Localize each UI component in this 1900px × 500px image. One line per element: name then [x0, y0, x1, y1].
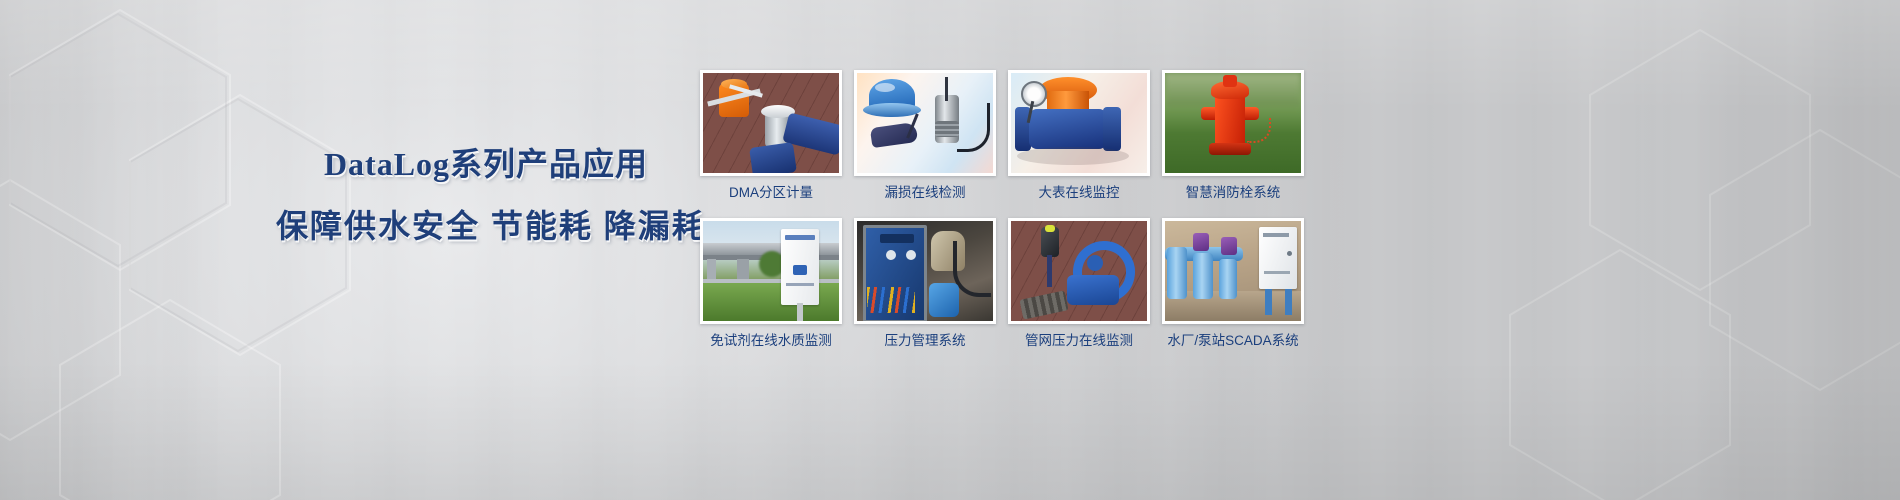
- panel-label-shape: [1263, 233, 1289, 237]
- cabinet-knob-2-shape: [906, 250, 916, 260]
- dma-metering-photo[interactable]: [700, 70, 842, 176]
- product-tile-caption: 大表在线监控: [1008, 185, 1150, 201]
- monitoring-cabinet-shape: [781, 229, 819, 305]
- probe-rod-shape: [945, 77, 948, 101]
- pipe-shape-2: [1193, 253, 1213, 299]
- sensor-stem-shape: [1047, 255, 1052, 287]
- valve-hub-shape: [1087, 255, 1103, 271]
- product-tile[interactable]: 免试剂在线水质监测: [700, 218, 842, 348]
- dome-ring-shape: [863, 103, 921, 117]
- valve-actuator-shape-2: [1221, 237, 1237, 255]
- cabinet-knob-1-shape: [886, 250, 896, 260]
- product-tile-caption: 管网压力在线监测: [1008, 333, 1150, 349]
- reagent-free-water-quality-photo[interactable]: [700, 218, 842, 324]
- product-tile[interactable]: 大表在线监控: [1008, 70, 1150, 200]
- product-tile-caption: 漏损在线检测: [854, 185, 996, 201]
- product-tile[interactable]: 压力管理系统: [854, 218, 996, 348]
- hydrant-chain-shape: [1247, 117, 1271, 143]
- product-tile[interactable]: 智慧消防栓系统: [1162, 70, 1304, 200]
- large-meter-monitoring-photo[interactable]: [1008, 70, 1150, 176]
- flange-right-shape: [1103, 107, 1121, 151]
- headline-block: DataLog系列产品应用 保障供水安全 节能耗 降漏耗: [276, 144, 696, 246]
- panel-indicator-shape: [1287, 251, 1292, 256]
- panel-leg-shape-2: [1285, 289, 1292, 315]
- product-tile-grid: DMA分区计量 漏损在线检测: [700, 70, 1304, 348]
- headline-line-1: DataLog系列产品应用: [276, 144, 696, 184]
- blue-canister-shape: [929, 283, 959, 317]
- valve-actuator-shape-1: [1193, 233, 1209, 251]
- cabinet-label-shape: [785, 235, 815, 240]
- pipe-shape-3: [1219, 259, 1237, 299]
- product-tile[interactable]: 水厂/泵站SCADA系统: [1162, 218, 1304, 348]
- product-tile[interactable]: 管网压力在线监测: [1008, 218, 1150, 348]
- sensor-led-shape: [1045, 225, 1055, 232]
- leak-detection-photo[interactable]: [854, 70, 996, 176]
- product-tile-caption: 压力管理系统: [854, 333, 996, 349]
- pipe-shape-1: [1167, 247, 1187, 299]
- scada-panel-shape: [1259, 227, 1297, 289]
- hydrant-bolt-shape: [1223, 75, 1237, 87]
- logger-device-shape: [935, 95, 959, 143]
- cabinet-footer-text-shape: [786, 283, 814, 286]
- gauge-dial-shape: [1021, 81, 1047, 107]
- cabinet-pole-shape: [797, 303, 803, 321]
- ground-shadow-shape: [1017, 147, 1129, 165]
- product-tile-caption: 免试剂在线水质监测: [700, 333, 842, 349]
- blue-valve-shape: [749, 142, 797, 176]
- headline-line-2: 保障供水安全 节能耗 降漏耗: [276, 206, 696, 246]
- meter-body-shape: [1029, 109, 1107, 149]
- cable-shape: [957, 103, 990, 152]
- hydrant-body-shape: [1215, 91, 1245, 147]
- product-application-banner: DataLog系列产品应用 保障供水安全 节能耗 降漏耗 DMA分区计量: [0, 0, 1900, 500]
- smart-hydrant-photo[interactable]: [1162, 70, 1304, 176]
- pipeline-pressure-photo[interactable]: [1008, 218, 1150, 324]
- grate-shape: [1019, 290, 1068, 319]
- product-tile[interactable]: DMA分区计量: [700, 70, 842, 200]
- pressure-management-photo[interactable]: [854, 218, 996, 324]
- cabinet-display-shape: [880, 234, 914, 243]
- wiring-harness-shape: [867, 287, 915, 313]
- product-tile-caption: 智慧消防栓系统: [1162, 185, 1304, 201]
- product-tile[interactable]: 漏损在线检测: [854, 70, 996, 200]
- hydrant-base-shape: [1209, 143, 1251, 155]
- panel-leg-shape-1: [1265, 289, 1272, 315]
- valve-body-shape: [1067, 275, 1119, 305]
- product-tile-caption: 水厂/泵站SCADA系统: [1162, 333, 1304, 349]
- product-tile-caption: DMA分区计量: [700, 185, 842, 201]
- overpass-pier-shape-2: [707, 259, 716, 281]
- panel-footer-text-shape: [1264, 271, 1290, 274]
- cabinet-logo-shape: [793, 265, 807, 275]
- scada-system-photo[interactable]: [1162, 218, 1304, 324]
